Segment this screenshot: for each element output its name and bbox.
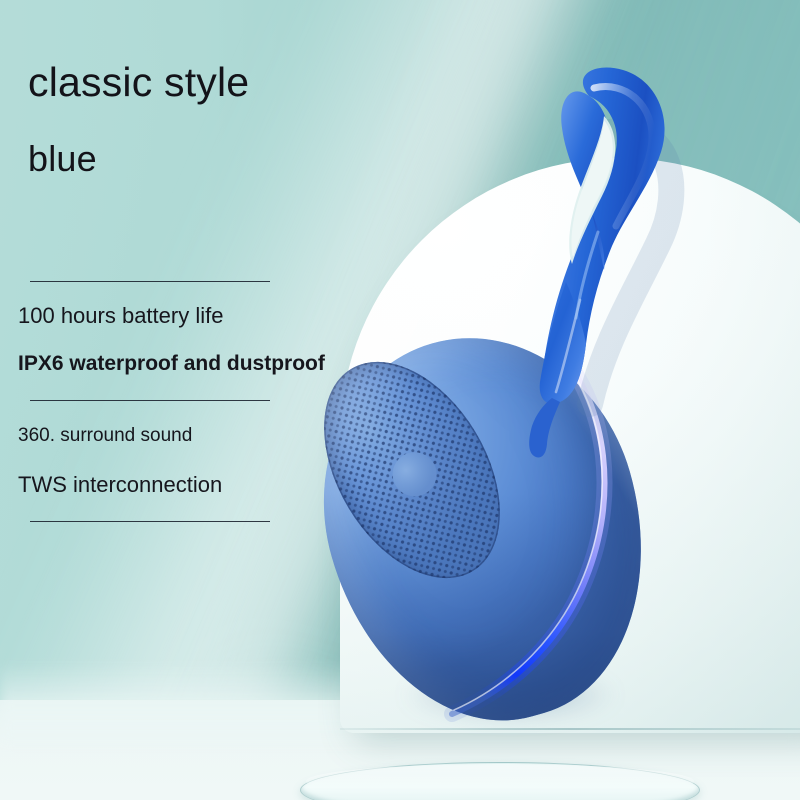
divider-3 bbox=[30, 521, 270, 522]
marketing-copy: classic style blue 100 hours battery lif… bbox=[0, 0, 380, 800]
feature-tws: TWS interconnection bbox=[18, 472, 222, 498]
headline-line-2: blue bbox=[28, 140, 97, 179]
arch-base-edge bbox=[340, 728, 800, 730]
feature-surround-sound: 360. surround sound bbox=[18, 425, 192, 447]
feature-waterproof: IPX6 waterproof and dustproof bbox=[18, 352, 325, 376]
divider-2 bbox=[30, 400, 270, 401]
headline-line-1: classic style bbox=[28, 60, 249, 104]
feature-battery: 100 hours battery life bbox=[18, 303, 223, 329]
product-banner: classic style blue 100 hours battery lif… bbox=[0, 0, 800, 800]
divider-1 bbox=[30, 281, 270, 282]
